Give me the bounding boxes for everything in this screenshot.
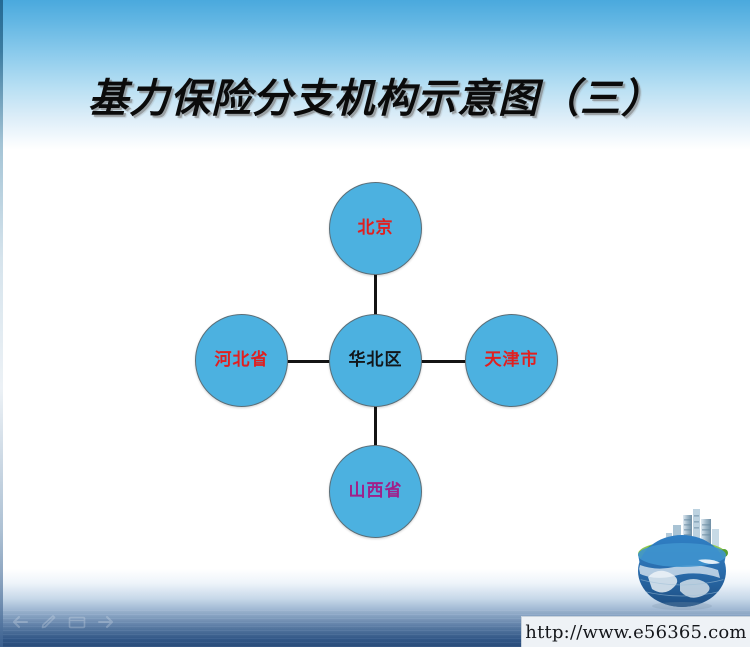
node-hebei[interactable]: 河北省 — [195, 314, 288, 407]
presentation-nav-bar[interactable] — [10, 611, 130, 633]
node-shanxi-label: 山西省 — [349, 483, 403, 500]
node-tianjin-label: 天津市 — [485, 352, 539, 369]
node-beijing-label: 北京 — [358, 220, 394, 237]
next-slide-icon[interactable] — [98, 615, 116, 629]
node-huabei-label: 华北区 — [349, 352, 403, 369]
node-hebei-label: 河北省 — [215, 352, 269, 369]
node-beijing[interactable]: 北京 — [329, 182, 422, 275]
slide-menu-icon[interactable] — [68, 615, 86, 629]
watermark-url-text: http://www.e56365.com — [525, 622, 746, 643]
node-shanxi[interactable]: 山西省 — [329, 445, 422, 538]
node-tianjin[interactable]: 天津市 — [465, 314, 558, 407]
globe-city-logo — [628, 507, 736, 611]
previous-slide-icon[interactable] — [10, 615, 28, 629]
node-huabei-center[interactable]: 华北区 — [329, 314, 422, 407]
pen-icon[interactable] — [40, 614, 56, 630]
watermark-url-box: http://www.e56365.com — [521, 616, 750, 647]
presentation-slide: 基力保险分支机构示意图（三） 北京 河北省 华北区 天津市 山西省 — [0, 0, 750, 647]
